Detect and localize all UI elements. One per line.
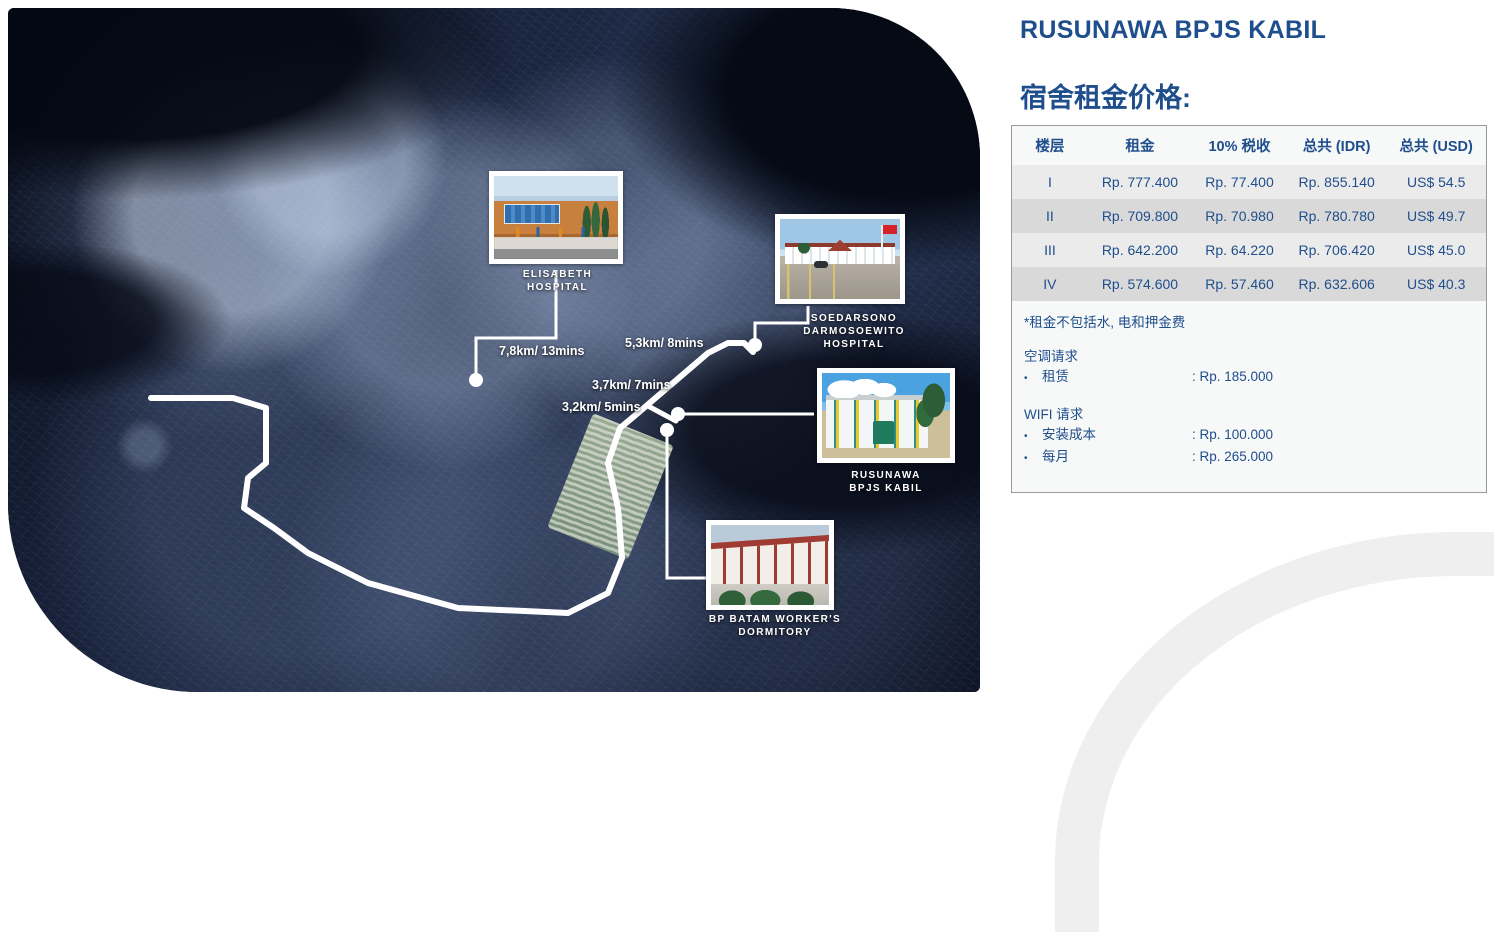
photo-soedarsono-image (780, 219, 900, 299)
wifi-install-item: • 安装成本 : Rp. 100.000 (1024, 425, 1474, 447)
cell-floor: I (1012, 165, 1088, 199)
map-dot-batam[interactable] (660, 423, 674, 437)
wifi-request-section: WIFI 请求 • 安装成本 : Rp. 100.000 • 每月 : Rp. … (1012, 389, 1486, 469)
ac-request-heading: 空调请求 (1024, 345, 1474, 365)
map-dot-soedarsono[interactable] (748, 338, 762, 352)
cell-total-usd: US$ 54.5 (1386, 165, 1486, 199)
satellite-map[interactable]: ELISABETH HOSPITAL SOEDARSONO DARMOSOEWI… (8, 8, 980, 692)
bollard-decor (506, 227, 608, 242)
cell-total-idr: Rp. 855.140 (1287, 165, 1387, 199)
rates-card: 楼层 租金 10% 税收 总共 (IDR) 总共 (USD) I Rp. 777… (1011, 125, 1487, 493)
distance-label-3-7km: 3,7km/ 7mins (592, 378, 671, 392)
wifi-monthly-value: : Rp. 265.000 (1192, 447, 1474, 467)
photo-soedarsono-hospital[interactable] (775, 214, 905, 304)
distance-label-3-2km: 3,2km/ 5mins (562, 400, 641, 414)
map-label-elisabeth: ELISABETH HOSPITAL (480, 268, 635, 294)
wifi-install-label: 安装成本 (1042, 425, 1192, 445)
cloud-decor (827, 376, 906, 398)
photo-elisabeth-image (494, 176, 618, 259)
rates-table: 楼层 租金 10% 税收 总共 (IDR) 总共 (USD) I Rp. 777… (1012, 126, 1486, 301)
bullet-icon: • (1024, 449, 1042, 469)
photo-rusunawa-bpjs-kabil[interactable] (817, 368, 955, 463)
cell-total-idr: Rp. 780.780 (1287, 199, 1387, 233)
cell-total-idr: Rp. 632.606 (1287, 267, 1387, 301)
table-row[interactable]: I Rp. 777.400 Rp. 77.400 Rp. 855.140 US$… (1012, 165, 1486, 199)
cell-tax: Rp. 70.980 (1192, 199, 1287, 233)
wifi-request-heading: WIFI 请求 (1024, 403, 1474, 423)
cell-total-idr: Rp. 706.420 (1287, 233, 1387, 267)
cell-total-usd: US$ 49.7 (1386, 199, 1486, 233)
roof-decor (828, 240, 852, 251)
col-header-rent: 租金 (1088, 126, 1192, 165)
table-row[interactable]: II Rp. 709.800 Rp. 70.980 Rp. 780.780 US… (1012, 199, 1486, 233)
photo-batam-image (711, 525, 829, 605)
ac-request-item: • 租赁 : Rp. 185.000 (1024, 367, 1474, 389)
cell-rent: Rp. 574.600 (1088, 267, 1192, 301)
wifi-monthly-label: 每月 (1042, 447, 1192, 467)
map-label-rusunawa: RUSUNAWA BPJS KABIL (818, 469, 954, 495)
map-label-soedarsono: SOEDARSONO DARMOSOEWITO HOSPITAL (768, 312, 940, 351)
cell-rent: Rp. 777.400 (1088, 165, 1192, 199)
flag-icon (881, 225, 883, 252)
bullet-icon: • (1024, 369, 1042, 389)
distance-label-7-8km: 7,8km/ 13mins (499, 344, 584, 358)
photo-rusunawa-image (822, 373, 950, 458)
distance-label-5-3km: 5,3km/ 8mins (625, 336, 704, 350)
map-dot-rusunawa[interactable] (671, 407, 685, 421)
photo-bp-batam-dormitory[interactable] (706, 520, 834, 610)
cell-tax: Rp. 64.220 (1192, 233, 1287, 267)
route-west (151, 398, 622, 613)
page-title: RUSUNAWA BPJS KABIL (1020, 16, 1326, 45)
photo-elisabeth-hospital[interactable] (489, 171, 623, 264)
wifi-monthly-item: • 每月 : Rp. 265.000 (1024, 447, 1474, 469)
cell-rent: Rp. 642.200 (1088, 233, 1192, 267)
wifi-install-value: : Rp. 100.000 (1192, 425, 1474, 445)
info-panel: RUSUNAWA BPJS KABIL 宿舍租金价格: 楼层 租金 10% 税收… (1010, 0, 1494, 700)
map-panel: ELISABETH HOSPITAL SOEDARSONO DARMOSOEWI… (8, 8, 980, 692)
page-subtitle: 宿舍租金价格: (1020, 76, 1191, 115)
cell-floor: IV (1012, 267, 1088, 301)
cell-floor: II (1012, 199, 1088, 233)
ac-request-section: 空调请求 • 租赁 : Rp. 185.000 (1012, 331, 1486, 389)
cell-tax: Rp. 77.400 (1192, 165, 1287, 199)
col-header-total-usd: 总共 (USD) (1386, 126, 1486, 165)
ac-request-value: : Rp. 185.000 (1192, 367, 1474, 387)
bullet-icon: • (1024, 427, 1042, 447)
col-header-tax: 10% 税收 (1192, 126, 1287, 165)
cell-floor: III (1012, 233, 1088, 267)
tree-decor (914, 382, 947, 436)
cell-total-usd: US$ 40.3 (1386, 267, 1486, 301)
leader-batam (667, 432, 706, 578)
cell-tax: Rp. 57.460 (1192, 267, 1287, 301)
car-decor (814, 261, 828, 268)
map-dot-elisabeth[interactable] (469, 373, 483, 387)
palm-decor (797, 243, 811, 265)
table-header-row: 楼层 租金 10% 税收 总共 (IDR) 总共 (USD) (1012, 126, 1486, 165)
col-header-total-idr: 总共 (IDR) (1287, 126, 1387, 165)
rates-note: *租金不包括水, 电和押金费 (1012, 301, 1486, 331)
table-row[interactable]: IV Rp. 574.600 Rp. 57.460 Rp. 632.606 US… (1012, 267, 1486, 301)
col-header-floor: 楼层 (1012, 126, 1088, 165)
cell-total-usd: US$ 45.0 (1386, 233, 1486, 267)
ac-request-label: 租赁 (1042, 367, 1192, 387)
table-row[interactable]: III Rp. 642.200 Rp. 64.220 Rp. 706.420 U… (1012, 233, 1486, 267)
cell-rent: Rp. 709.800 (1088, 199, 1192, 233)
map-label-batam: BP BATAM WORKER'S DORMITORY (680, 613, 870, 639)
